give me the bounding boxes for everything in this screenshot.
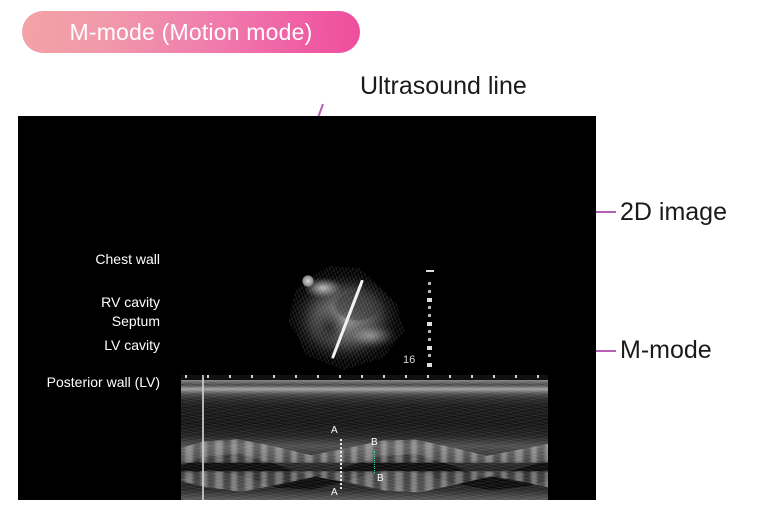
depth-tick-major xyxy=(427,363,432,367)
title-badge-label: M-mode (Motion mode) xyxy=(69,21,312,44)
caliper-label-b-top: B xyxy=(371,437,378,448)
depth-tick xyxy=(428,338,431,341)
depth-tick xyxy=(428,330,431,333)
depth-tick xyxy=(428,314,431,317)
caliper-label-a-bottom: A xyxy=(331,487,338,498)
probe-marker-dot xyxy=(302,275,314,287)
label-septum: Septum xyxy=(112,313,160,329)
m-mode-speckle-texture xyxy=(181,380,548,500)
depth-label-2d: 16 xyxy=(403,354,415,366)
depth-ruler-cap xyxy=(426,270,434,272)
label-lv-cavity: LV cavity xyxy=(104,337,160,353)
depth-tick xyxy=(428,282,431,285)
label-posterior-wall: Posterior wall (LV) xyxy=(47,374,160,390)
callout-2d-image: 2D image xyxy=(620,198,727,227)
label-chest-wall: Chest wall xyxy=(95,251,160,267)
depth-tick xyxy=(428,354,431,357)
m-mode-strip: A A B B 16 xyxy=(181,375,548,500)
depth-tick-major xyxy=(427,346,432,350)
depth-ruler-2d xyxy=(426,270,434,370)
caliper-label-a-top: A xyxy=(331,425,338,436)
2d-echo-image: 16 xyxy=(283,266,443,374)
diagram-canvas: M-mode (Motion mode) Ultrasound line 2D … xyxy=(0,0,768,520)
caliper-line-b xyxy=(374,451,375,473)
label-rv-cavity: RV cavity xyxy=(101,294,160,310)
callout-ultrasound-line: Ultrasound line xyxy=(360,72,527,101)
depth-tick-major xyxy=(427,322,432,326)
m-mode-cursor-line xyxy=(202,375,204,500)
caliper-label-b-bottom: B xyxy=(377,473,384,484)
depth-tick xyxy=(428,306,431,309)
caliper-line-a xyxy=(340,439,342,489)
callout-m-mode: M-mode xyxy=(620,336,712,365)
depth-tick-major xyxy=(427,298,432,302)
depth-tick xyxy=(428,290,431,293)
title-badge: M-mode (Motion mode) xyxy=(22,11,360,53)
